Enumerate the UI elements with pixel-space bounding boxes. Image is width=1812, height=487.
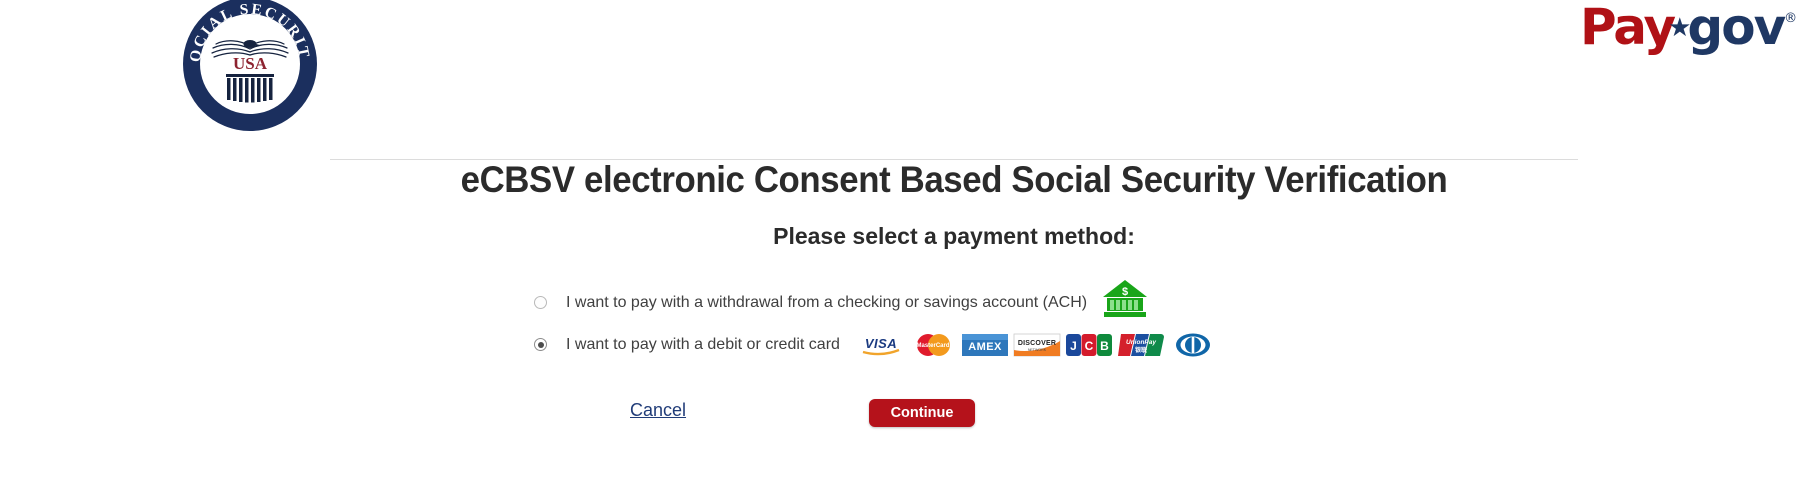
payment-option-card-label: I want to pay with a debit or credit car…: [566, 336, 840, 354]
ssa-seal-icon: SOCIAL SECURITY ADMINISTRATION USA: [180, 0, 320, 134]
svg-text:DISCOVER: DISCOVER: [1018, 340, 1056, 347]
radio-card[interactable]: [534, 338, 547, 351]
svg-text:UnionPay: UnionPay: [1126, 339, 1156, 346]
bank-ach-icon: $: [1101, 278, 1149, 322]
svg-text:J: J: [1070, 339, 1077, 353]
paygov-logo: Pay★gov®: [1580, 2, 1770, 64]
visa-logo: VISA: [857, 332, 905, 358]
svg-text:B: B: [1100, 339, 1109, 353]
amex-logo: AMEX: [961, 332, 1009, 358]
accepted-card-logos: VISA MasterCard: [857, 332, 1217, 358]
page-header: SOCIAL SECURITY ADMINISTRATION USA: [0, 0, 1812, 135]
cancel-link[interactable]: Cancel: [630, 400, 686, 421]
svg-text:USA: USA: [233, 54, 268, 73]
continue-button[interactable]: Continue: [869, 399, 975, 427]
mastercard-logo: MasterCard: [909, 332, 957, 358]
main-content: eCBSV electronic Consent Based Social Se…: [330, 160, 1578, 442]
radio-ach[interactable]: [534, 296, 547, 309]
payment-option-card[interactable]: I want to pay with a debit or credit car…: [534, 324, 1578, 366]
paygov-logo-gov: gov: [1687, 0, 1784, 56]
payment-method-options: I want to pay with a withdrawal from a c…: [330, 282, 1578, 366]
unionpay-logo: UnionPay 银联: [1117, 332, 1165, 358]
svg-text:MasterCard: MasterCard: [916, 343, 949, 349]
page-subtitle: Please select a payment method:: [330, 223, 1578, 250]
diners-club-logo: [1169, 332, 1217, 358]
page-title: eCBSV electronic Consent Based Social Se…: [367, 160, 1540, 201]
svg-text:C: C: [1085, 339, 1094, 353]
svg-text:AMEX: AMEX: [968, 341, 1002, 353]
discover-logo: DISCOVER NETWORK: [1013, 332, 1061, 358]
payment-option-ach[interactable]: I want to pay with a withdrawal from a c…: [534, 282, 1578, 324]
jcb-logo: J C B: [1065, 332, 1113, 358]
paygov-logo-registered-mark: ®: [1784, 11, 1797, 26]
svg-text:NETWORK: NETWORK: [1028, 348, 1047, 352]
form-actions: Cancel Continue: [330, 392, 1578, 442]
paygov-logo-pay: Pay: [1580, 0, 1674, 56]
svg-text:$: $: [1122, 286, 1128, 298]
svg-text:银联: 银联: [1135, 346, 1147, 354]
payment-option-ach-label: I want to pay with a withdrawal from a c…: [566, 294, 1087, 312]
svg-text:VISA: VISA: [865, 336, 897, 351]
